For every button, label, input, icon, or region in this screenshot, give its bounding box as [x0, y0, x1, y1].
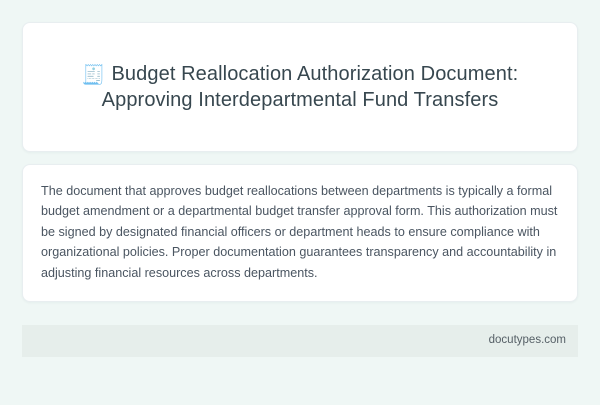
- footer-site-label: docutypes.com: [489, 335, 566, 347]
- page-title-label: Budget Reallocation Authorization Docume…: [102, 63, 519, 111]
- page-container: 🧾Budget Reallocation Authorization Docum…: [0, 0, 600, 405]
- description-card: The document that approves budget reallo…: [22, 164, 578, 302]
- description-text: The document that approves budget reallo…: [41, 181, 559, 283]
- title-card: 🧾Budget Reallocation Authorization Docum…: [22, 22, 578, 152]
- receipt-icon: 🧾: [82, 65, 106, 86]
- page-title: 🧾Budget Reallocation Authorization Docum…: [47, 61, 553, 114]
- footer-bar: docutypes.com: [22, 325, 578, 357]
